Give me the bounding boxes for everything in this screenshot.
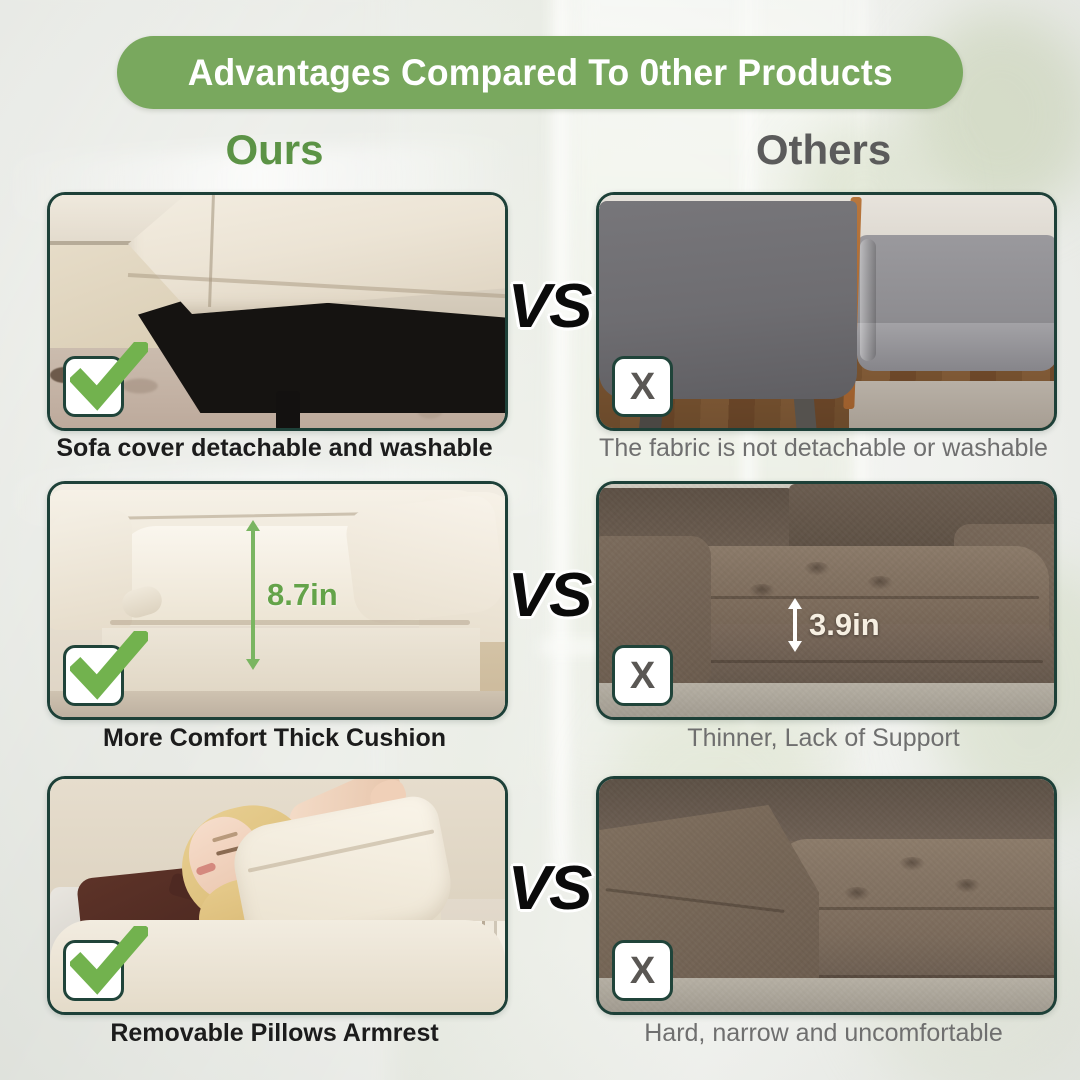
- vs-marker-2: VS: [501, 565, 598, 627]
- caption-ours-1: Sofa cover detachable and washable: [47, 434, 502, 463]
- vs-marker-3: VS: [501, 858, 598, 920]
- measurement-others-2: 3.9in: [788, 598, 880, 652]
- comparison-card-others-1: X: [596, 192, 1057, 431]
- caption-ours-3: Removable Pillows Armrest: [47, 1019, 502, 1048]
- column-heading-others: Others: [596, 126, 1051, 174]
- x-icon: X: [630, 368, 655, 406]
- comparison-card-ours-1: [47, 192, 508, 431]
- check-badge: [63, 645, 124, 706]
- measurement-label-ours-2: 8.7in: [267, 577, 338, 613]
- x-badge: X: [612, 940, 673, 1001]
- check-badge: [63, 356, 124, 417]
- x-icon: X: [630, 952, 655, 990]
- comparison-card-ours-2: 8.7in: [47, 481, 508, 720]
- comparison-card-others-3: X: [596, 776, 1057, 1015]
- vs-marker-1: VS: [501, 276, 598, 338]
- comparison-card-ours-3: [47, 776, 508, 1015]
- x-badge: X: [612, 356, 673, 417]
- x-badge: X: [612, 645, 673, 706]
- comparison-card-others-2: 3.9in X: [596, 481, 1057, 720]
- caption-others-1: The fabric is not detachable or washable: [596, 434, 1051, 463]
- infographic-canvas: Advantages Compared To 0ther Products Ou…: [0, 0, 1080, 1080]
- measurement-label-others-2: 3.9in: [809, 607, 880, 643]
- caption-others-2: Thinner, Lack of Support: [596, 724, 1051, 753]
- page-title: Advantages Compared To 0ther Products: [187, 52, 892, 94]
- caption-ours-2: More Comfort Thick Cushion: [47, 724, 502, 753]
- column-heading-ours: Ours: [47, 126, 502, 174]
- measurement-ours-2: 8.7in: [246, 520, 338, 670]
- caption-others-3: Hard, narrow and uncomfortable: [596, 1019, 1051, 1048]
- x-icon: X: [630, 657, 655, 695]
- page-title-banner: Advantages Compared To 0ther Products: [117, 36, 963, 109]
- check-badge: [63, 940, 124, 1001]
